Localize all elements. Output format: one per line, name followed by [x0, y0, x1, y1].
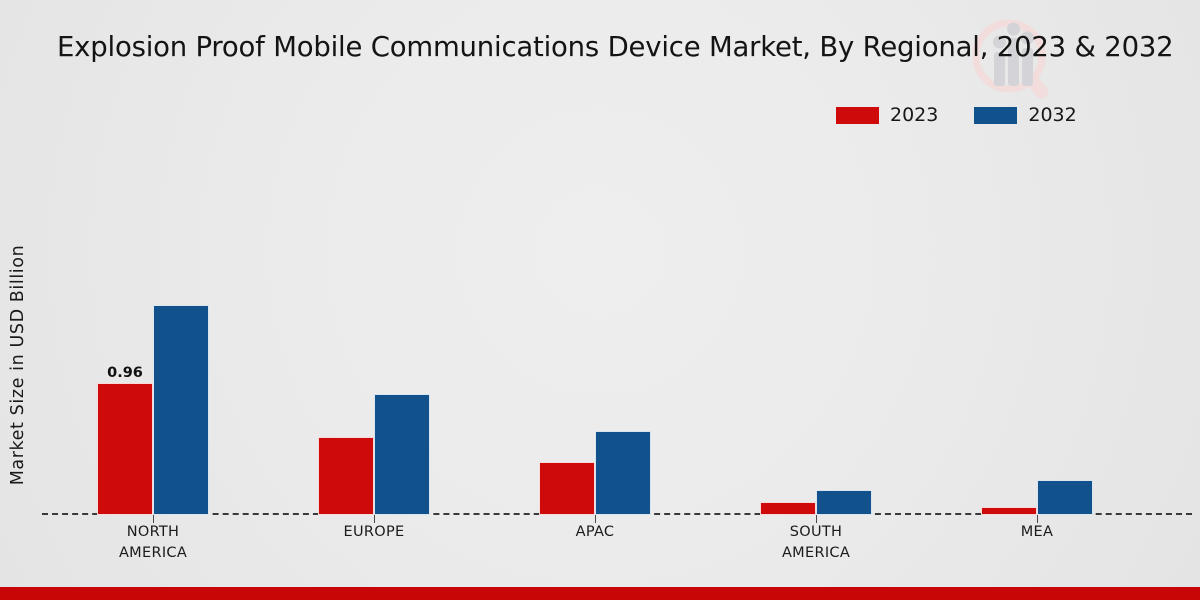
legend-item-2023[interactable]: 2023 — [836, 104, 938, 126]
bar-pair — [318, 150, 430, 515]
page-title: Explosion Proof Mobile Communications De… — [57, 29, 1177, 65]
bar-2032-europe[interactable] — [374, 394, 430, 515]
bar-2023-apac[interactable] — [539, 462, 595, 515]
bar-pair — [981, 150, 1093, 515]
plot-area: 0.96 NORTH AMERICA EUROPE APAC — [42, 150, 1192, 515]
bar-2023-europe[interactable] — [318, 437, 374, 515]
y-axis-title: Market Size in USD Billion — [8, 195, 28, 535]
legend-label-2032: 2032 — [1028, 104, 1076, 126]
legend-swatch-2023 — [836, 107, 879, 124]
legend-item-2032[interactable]: 2032 — [974, 104, 1076, 126]
bar-value-label: 0.96 — [107, 365, 143, 381]
bar-2032-north-america[interactable] — [153, 305, 209, 515]
bar-2032-apac[interactable] — [595, 431, 651, 515]
bar-pair: 0.96 — [97, 150, 209, 515]
x-axis-label-apac: APAC — [485, 522, 705, 543]
chart-legend: 2023 2032 — [836, 104, 1077, 126]
bar-2023-mea[interactable] — [981, 507, 1037, 515]
bar-2032-south-america[interactable] — [816, 490, 872, 515]
bar-2023-north-america[interactable]: 0.96 — [97, 383, 153, 515]
x-axis-label-north-america: NORTH AMERICA — [43, 522, 263, 564]
footer-accent-bar — [0, 587, 1200, 600]
legend-swatch-2032 — [974, 107, 1017, 124]
x-axis-label-europe: EUROPE — [264, 522, 484, 543]
x-axis-label-mea: MEA — [927, 522, 1147, 543]
bar-2023-south-america[interactable] — [760, 502, 816, 515]
bar-pair — [539, 150, 651, 515]
chart-figure: Explosion Proof Mobile Communications De… — [0, 0, 1200, 600]
bar-pair — [760, 150, 872, 515]
x-axis-label-south-america: SOUTH AMERICA — [706, 522, 926, 564]
bar-2032-mea[interactable] — [1037, 480, 1093, 515]
legend-label-2023: 2023 — [890, 104, 938, 126]
